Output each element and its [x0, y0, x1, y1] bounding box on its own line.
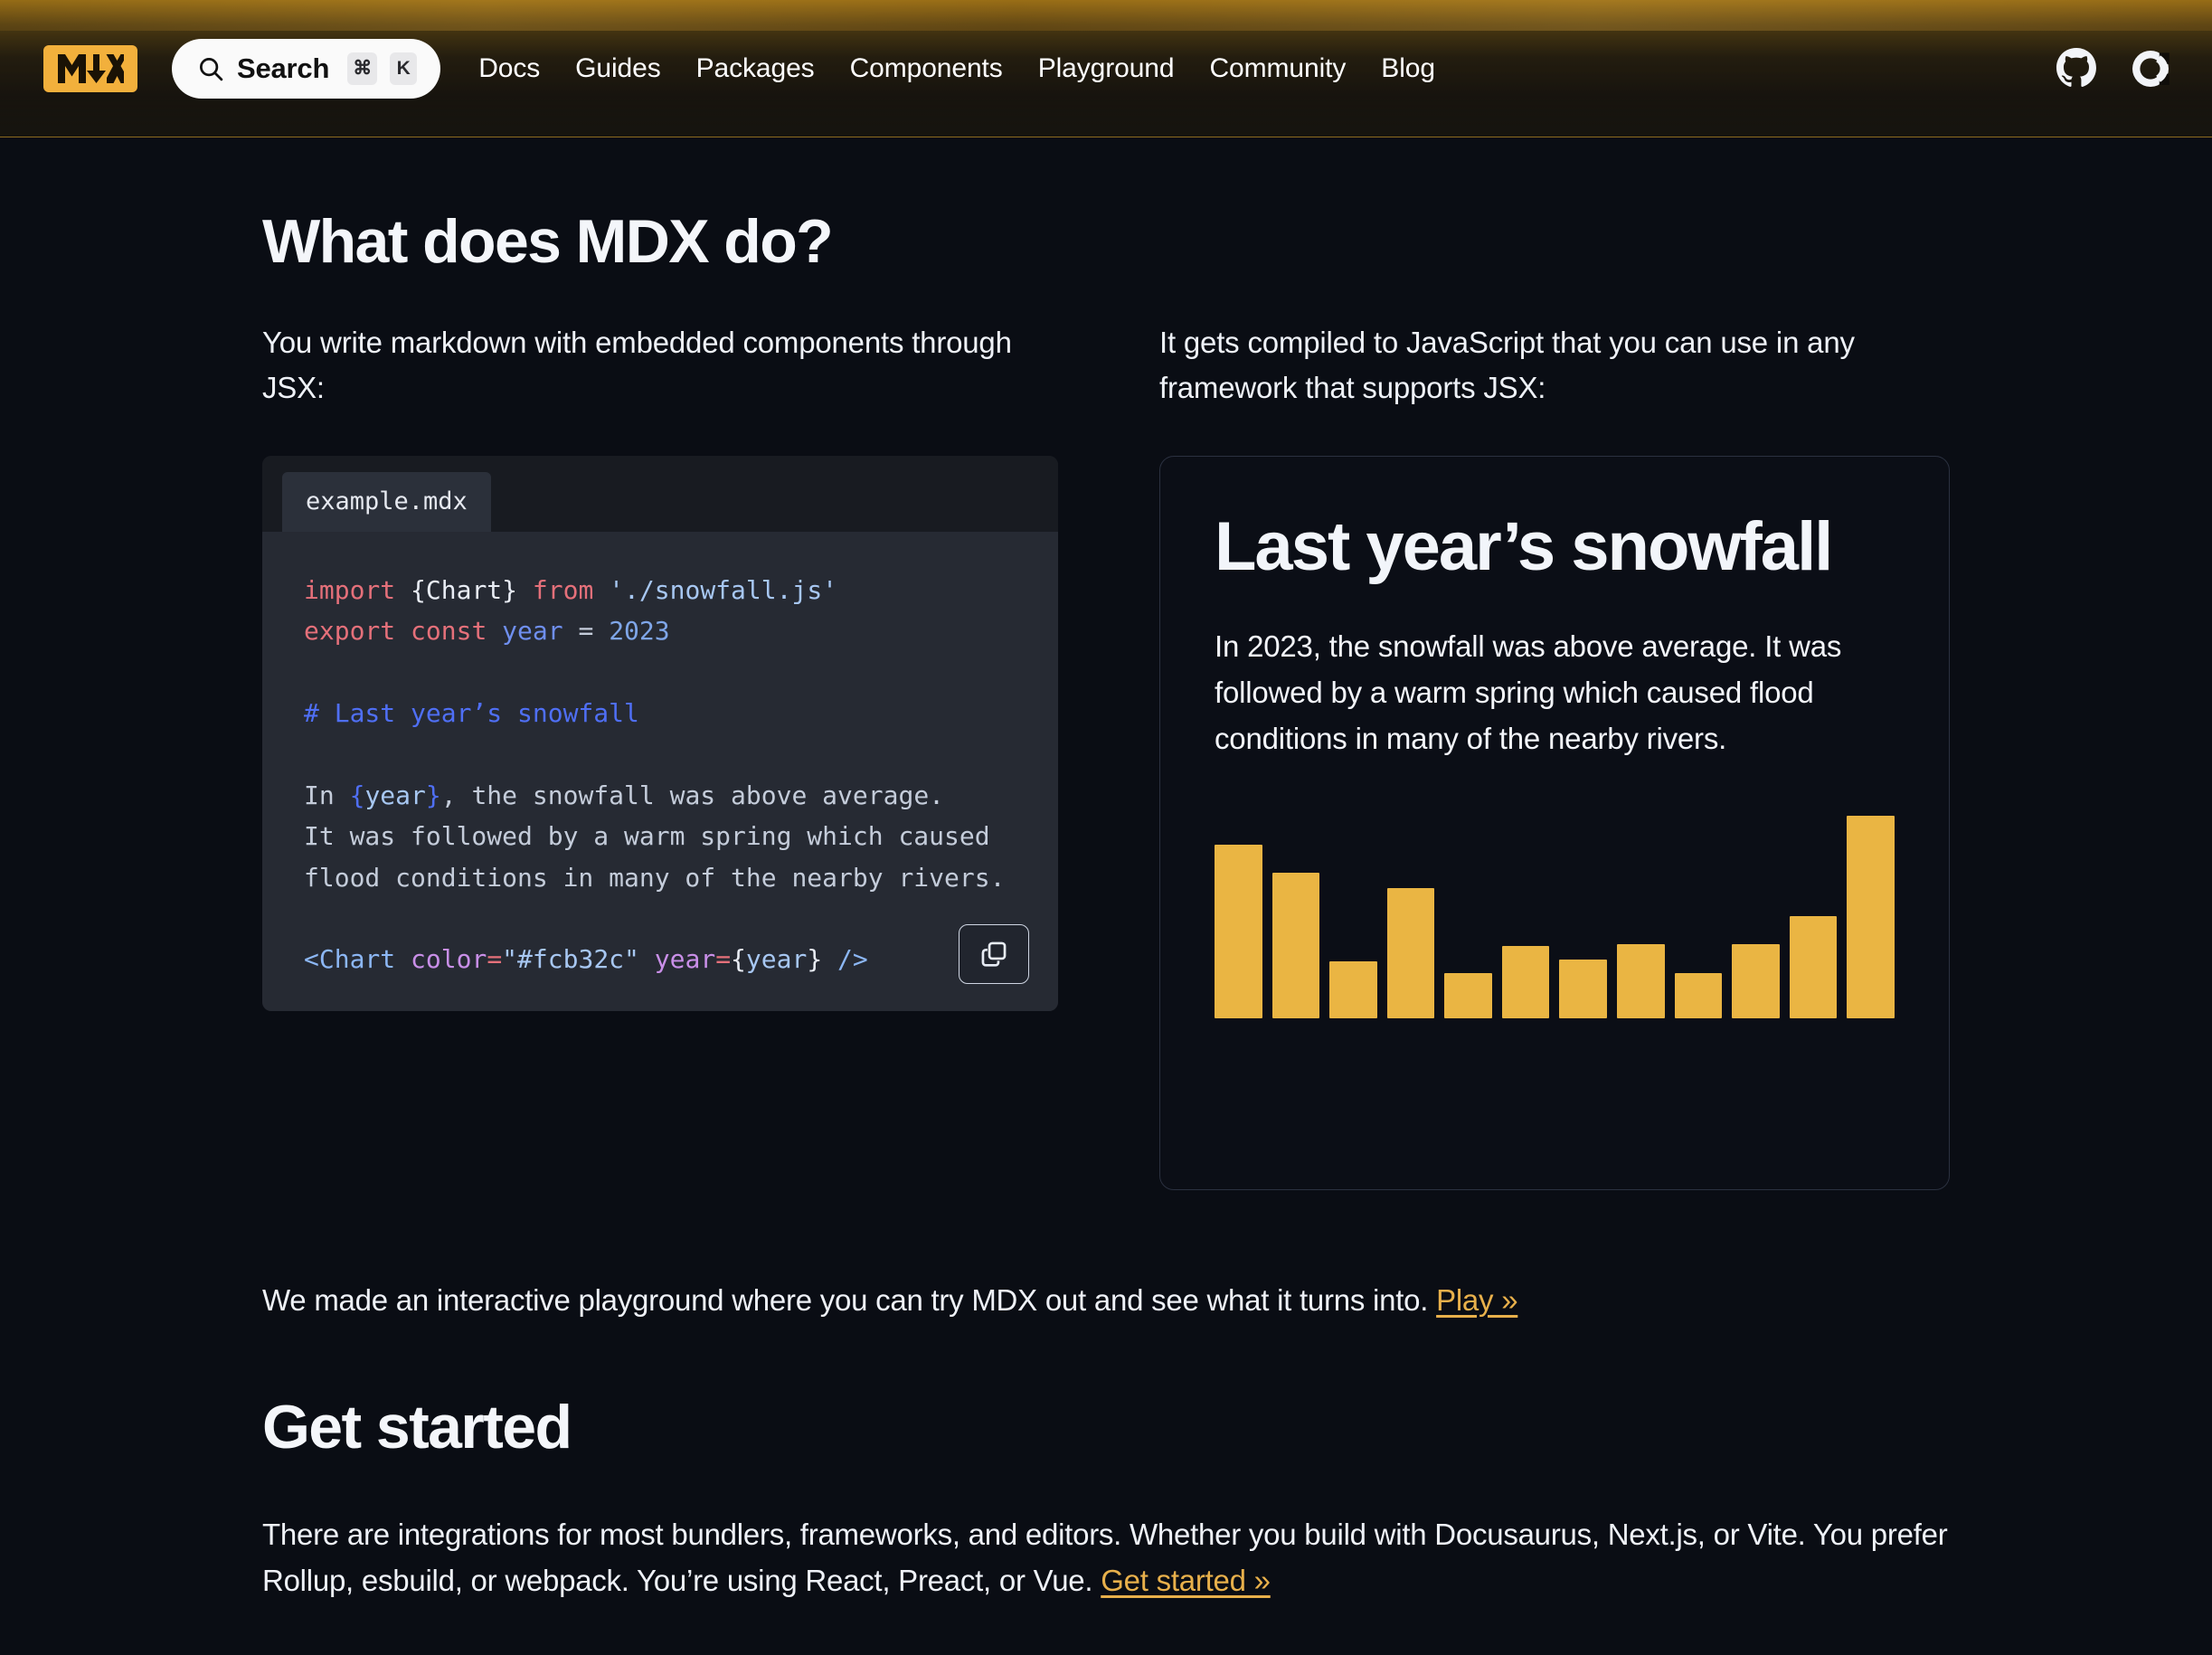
code-token-const: const: [395, 616, 487, 646]
main-content: What does MDX do? You write markdown wit…: [0, 206, 2212, 1603]
chart-bar: [1790, 916, 1838, 1018]
github-icon[interactable]: [2053, 45, 2100, 92]
get-started-paragraph: There are integrations for most bundlers…: [262, 1511, 1950, 1603]
code-token-jsx-brace-open: {: [731, 944, 746, 974]
code-token-export: export: [304, 616, 395, 646]
opencollective-icon[interactable]: [2127, 45, 2174, 92]
nav-link-packages[interactable]: Packages: [696, 53, 815, 84]
preview-card: Last year’s snowfall In 2023, the snowfa…: [1159, 456, 1950, 1190]
playground-text: We made an interactive playground where …: [262, 1283, 1436, 1317]
code-token-para-b: , the snowfall was above average.: [441, 780, 944, 810]
primary-nav-links: Docs Guides Packages Components Playgrou…: [478, 53, 1435, 84]
github-icon-glyph: [2055, 47, 2098, 90]
code-token-year-value: 2023: [609, 616, 669, 646]
code-token-jsx-year: year: [746, 944, 807, 974]
code-token-attr-eq-2: =: [715, 944, 731, 974]
nav-link-blog[interactable]: Blog: [1381, 53, 1435, 84]
kbd-cmd: ⌘: [347, 52, 377, 85]
get-started-title: Get started: [262, 1392, 1950, 1462]
code-token-para-line2: It was followed by a warm spring which c…: [304, 821, 990, 851]
chart-bar: [1387, 888, 1435, 1018]
right-column: It gets compiled to JavaScript that you …: [1159, 320, 1950, 1190]
chart-bar: [1617, 944, 1665, 1018]
code-token-tag-close: />: [822, 944, 868, 974]
opencollective-icon-glyph: [2129, 47, 2172, 90]
mdx-logo-glyph: [57, 53, 124, 84]
snowfall-bar-chart: [1215, 810, 1895, 1018]
chart-bar: [1215, 845, 1262, 1018]
left-column: You write markdown with embedded compone…: [262, 320, 1058, 1011]
nav-link-playground[interactable]: Playground: [1038, 53, 1175, 84]
top-navigation-bar: Search ⌘ K Docs Guides Packages Componen…: [0, 0, 2212, 137]
two-column-layout: You write markdown with embedded compone…: [262, 320, 1950, 1190]
chart-bar: [1502, 946, 1550, 1019]
mdx-logo[interactable]: [43, 45, 137, 92]
code-token-chart-binding: {Chart}: [395, 575, 533, 605]
page-title: What does MDX do?: [262, 206, 1950, 277]
code-token-attr-eq-1: =: [487, 944, 502, 974]
chart-bar: [1329, 961, 1377, 1018]
nav-link-community[interactable]: Community: [1209, 53, 1346, 84]
code-block-body: import {Chart} from './snowfall.js' expo…: [262, 532, 1058, 1011]
code-token-equals: =: [563, 616, 610, 646]
code-token-brace-close: }: [426, 780, 441, 810]
code-tab-example-mdx[interactable]: example.mdx: [282, 472, 491, 532]
code-token-jsx-brace-close: }: [807, 944, 822, 974]
copy-code-button[interactable]: [959, 924, 1029, 984]
search-icon: [197, 55, 224, 82]
nav-icon-group: [2053, 45, 2174, 92]
chart-bar: [1272, 873, 1320, 1018]
code-token-brace-open: {: [350, 780, 365, 810]
search-button[interactable]: Search ⌘ K: [172, 39, 440, 99]
get-started-link[interactable]: Get started »: [1101, 1564, 1271, 1597]
code-token-attr-year: year: [639, 944, 715, 974]
play-link[interactable]: Play »: [1436, 1283, 1517, 1317]
preview-title: Last year’s snowfall: [1215, 509, 1895, 585]
right-lede-text: It gets compiled to JavaScript that you …: [1159, 320, 1950, 418]
kbd-k: K: [390, 52, 417, 85]
code-snippet[interactable]: import {Chart} from './snowfall.js' expo…: [262, 570, 1058, 980]
chart-bar: [1732, 944, 1780, 1018]
chart-bar: [1444, 973, 1492, 1018]
code-token-attr-color: color: [395, 944, 487, 974]
copy-icon: [978, 939, 1009, 969]
preview-paragraph: In 2023, the snowfall was above average.…: [1215, 623, 1895, 761]
chart-bar: [1675, 973, 1723, 1018]
code-tab-bar: example.mdx: [262, 456, 1058, 532]
code-token-chart-tag: <Chart: [304, 944, 395, 974]
search-label: Search: [237, 52, 329, 85]
chart-bar: [1559, 960, 1607, 1018]
nav-link-guides[interactable]: Guides: [575, 53, 660, 84]
nav-link-components[interactable]: Components: [850, 53, 1003, 84]
left-lede-text: You write markdown with embedded compone…: [262, 320, 1058, 418]
code-token-expr-year: year: [364, 780, 425, 810]
code-token-color-value: "#fcb32c": [502, 944, 639, 974]
code-token-import: import: [304, 575, 395, 605]
code-token-year-var: year: [487, 616, 562, 646]
code-token-markdown-heading: # Last year’s snowfall: [304, 698, 639, 728]
nav-link-docs[interactable]: Docs: [478, 53, 540, 84]
code-token-module-path: './snowfall.js': [593, 575, 837, 605]
code-token-from: from: [533, 575, 593, 605]
playground-paragraph: We made an interactive playground where …: [262, 1277, 1950, 1323]
code-token-para-line3: flood conditions in many of the nearby r…: [304, 863, 1005, 893]
chart-bar: [1847, 816, 1895, 1018]
code-token-para-a: In: [304, 780, 350, 810]
code-block-card: example.mdx import {Chart} from './snowf…: [262, 456, 1058, 1011]
